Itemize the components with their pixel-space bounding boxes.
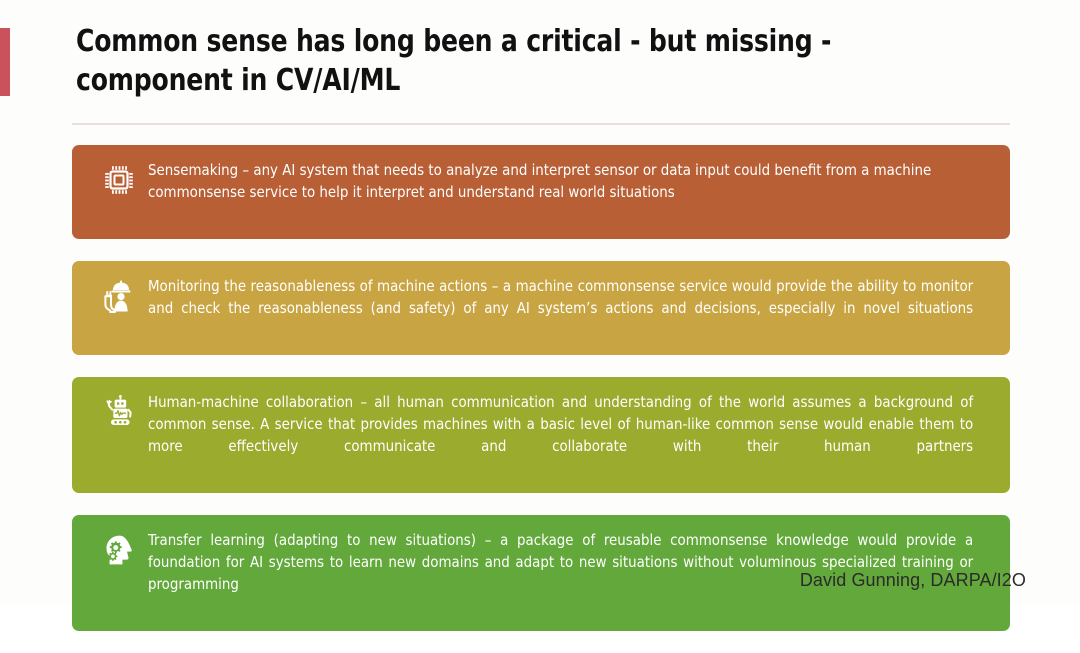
benefit-bar-collaboration[interactable]: Human-machine collaboration – all human … [72,377,1010,493]
benefit-bar-text: Human-machine collaboration – all human … [148,391,979,479]
robot-icon [90,391,148,429]
benefit-bar-text: Monitoring the reasonableness of machine… [148,275,979,341]
page-title-text: Common sense has long been a critical - … [76,22,941,100]
left-accent-marker [0,28,10,96]
benefit-bar-text: Sensemaking – any AI system that needs t… [148,159,979,225]
title-divider [72,123,1010,125]
head-gears-icon [90,529,148,567]
benefit-bar-monitoring[interactable]: Monitoring the reasonableness of machine… [72,261,1010,355]
attribution-text: David Gunning, DARPA/I2O [800,570,1026,591]
engineer-worker-icon [90,275,148,313]
benefit-bar-sensemaking[interactable]: Sensemaking – any AI system that needs t… [72,145,1010,239]
page-title: Common sense has long been a critical - … [76,22,1006,100]
microchip-icon [90,159,148,197]
